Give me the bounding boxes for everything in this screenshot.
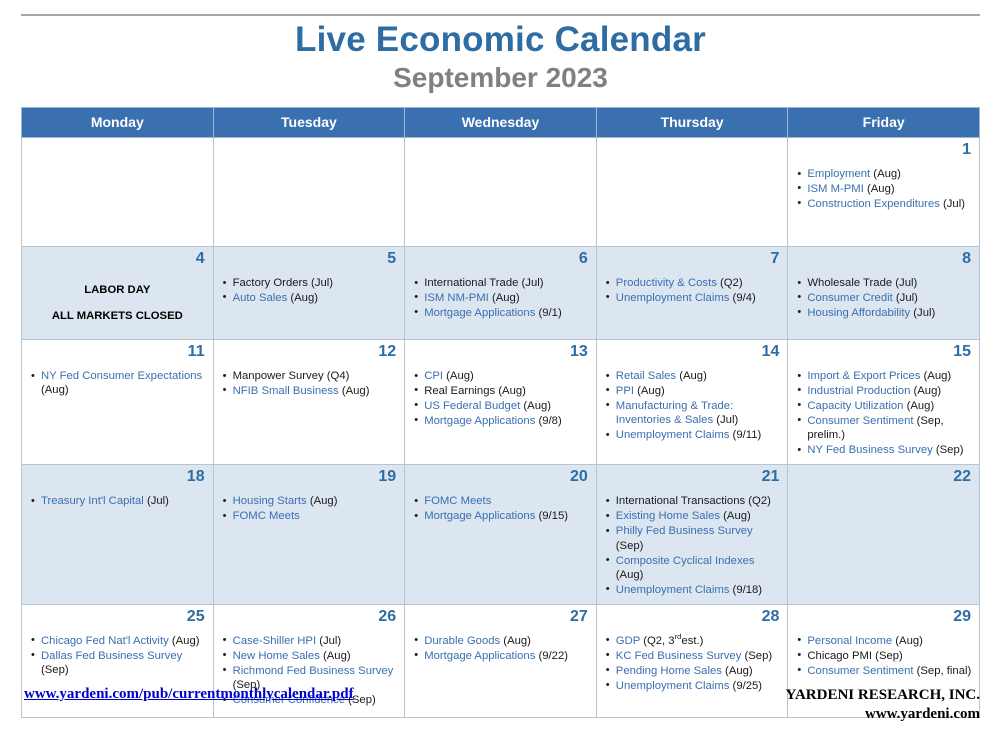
event-name[interactable]: Mortgage Applications — [424, 650, 535, 662]
day-number — [405, 138, 596, 161]
event-period: (Aug) — [720, 510, 751, 522]
event-period: (Q2) — [745, 495, 771, 507]
event-period: (9/1) — [535, 307, 561, 319]
event-period: (9/4) — [729, 292, 755, 304]
event-item: Manpower Survey (Q4) — [222, 369, 399, 383]
event-item[interactable]: ISM M-PMI (Aug) — [796, 182, 973, 196]
event-name[interactable]: Pending Home Sales — [616, 665, 722, 677]
event-period: (9/18) — [729, 584, 762, 596]
event-item[interactable]: PPI (Aug) — [605, 384, 782, 398]
event-period: (Jul) — [910, 307, 935, 319]
calendar-day-cell: 14Retail Sales (Aug)PPI (Aug)Manufacturi… — [596, 340, 788, 465]
event-period: (Sep) — [41, 664, 69, 676]
calendar-container: Monday Tuesday Wednesday Thursday Friday… — [21, 107, 980, 718]
event-name[interactable]: FOMC Meets — [233, 510, 300, 522]
event-period: (Jul) — [308, 277, 333, 289]
event-period: (Aug) — [443, 370, 474, 382]
event-name[interactable]: Dallas Fed Business Survey — [41, 650, 182, 662]
event-name[interactable]: New Home Sales — [233, 650, 320, 662]
event-name[interactable]: Housing Starts — [233, 495, 307, 507]
event-period: (Jul) — [892, 277, 917, 289]
event-name[interactable]: NY Fed Business Survey — [807, 444, 932, 456]
calendar-page: Live Economic Calendar September 2023 Mo… — [0, 0, 1001, 748]
event-name[interactable]: Construction Expenditures — [807, 198, 940, 210]
day-number: 4 — [22, 247, 213, 270]
weekday-header-thursday: Thursday — [596, 108, 788, 138]
event-item[interactable]: Consumer Credit (Jul) — [796, 291, 973, 305]
holiday-line-2: ALL MARKETS CLOSED — [26, 310, 209, 322]
calendar-day-cell: 15Import & Export Prices (Aug)Industrial… — [788, 340, 980, 465]
event-item[interactable]: Productivity & Costs (Q2) — [605, 276, 782, 290]
event-item[interactable]: Existing Home Sales (Aug) — [605, 509, 782, 523]
event-item: Wholesale Trade (Jul) — [796, 276, 973, 290]
event-name: International Transactions — [616, 495, 745, 507]
day-number: 25 — [22, 605, 213, 628]
calendar-day-cell: 7Productivity & Costs (Q2)Unemployment C… — [596, 247, 788, 340]
event-name[interactable]: Consumer Sentiment — [807, 415, 913, 427]
day-number: 7 — [597, 247, 788, 270]
event-name[interactable]: Composite Cyclical Indexes — [616, 555, 755, 567]
event-name[interactable]: Treasury Int'l Capital — [41, 495, 144, 507]
event-period: (Q4) — [324, 370, 350, 382]
event-list: Factory Orders (Jul)Auto Sales (Aug) — [214, 270, 405, 312]
calendar-empty-cell — [405, 138, 597, 247]
calendar-week-row: 1Employment (Aug)ISM M-PMI (Aug)Construc… — [22, 138, 980, 247]
event-period: (Jul) — [144, 495, 169, 507]
calendar-empty-cell — [213, 138, 405, 247]
calendar-day-cell: 8Wholesale Trade (Jul)Consumer Credit (J… — [788, 247, 980, 340]
event-list: CPI (Aug)Real Earnings (Aug)US Federal B… — [405, 363, 596, 435]
event-period: (Sep) — [616, 540, 644, 552]
publisher-block: YARDENI RESEARCH, INC. www.yardeni.com — [786, 686, 980, 724]
event-item: Real Earnings (Aug) — [413, 384, 590, 398]
day-number: 20 — [405, 465, 596, 488]
day-number — [22, 138, 213, 161]
calendar-day-cell: 4LABOR DAYALL MARKETS CLOSED — [22, 247, 214, 340]
weekday-header-tuesday: Tuesday — [213, 108, 405, 138]
event-name[interactable]: Existing Home Sales — [616, 510, 720, 522]
event-period: (Aug) — [169, 635, 200, 647]
event-item[interactable]: Pending Home Sales (Aug) — [605, 664, 782, 678]
event-item[interactable]: Manufacturing & Trade: Inventories & Sal… — [605, 399, 782, 428]
event-name[interactable]: PPI — [616, 385, 634, 397]
event-list: Treasury Int'l Capital (Jul) — [22, 488, 213, 515]
event-item[interactable]: Unemployment Claims (9/11) — [605, 428, 782, 442]
event-name[interactable]: Durable Goods — [424, 635, 500, 647]
weekday-header-monday: Monday — [22, 108, 214, 138]
event-item[interactable]: Unemployment Claims (9/4) — [605, 291, 782, 305]
event-period: (Aug) — [676, 370, 707, 382]
event-item: International Transactions (Q2) — [605, 494, 782, 508]
day-number: 18 — [22, 465, 213, 488]
event-name[interactable]: Philly Fed Business Survey — [616, 525, 753, 537]
event-list: International Trade (Jul)ISM NM-PMI (Aug… — [405, 270, 596, 327]
event-name[interactable]: Case-Shiller HPI — [233, 635, 317, 647]
event-period: (Aug) — [41, 384, 69, 396]
event-period: (Jul) — [316, 635, 341, 647]
event-list: Productivity & Costs (Q2)Unemployment Cl… — [597, 270, 788, 312]
event-item[interactable]: NFIB Small Business (Aug) — [222, 384, 399, 398]
event-name[interactable]: Unemployment Claims — [616, 429, 730, 441]
event-list: Durable Goods (Aug)Mortgage Applications… — [405, 628, 596, 670]
calendar-body: 1Employment (Aug)ISM M-PMI (Aug)Construc… — [22, 138, 980, 718]
calendar-day-cell: 11NY Fed Consumer Expectations (Aug) — [22, 340, 214, 465]
event-name[interactable]: FOMC Meets — [424, 495, 491, 507]
event-item[interactable]: NY Fed Consumer Expectations (Aug) — [30, 369, 207, 398]
event-period: (9/11) — [729, 429, 761, 441]
calendar-day-cell: 5Factory Orders (Jul)Auto Sales (Aug) — [213, 247, 405, 340]
day-number — [597, 138, 788, 161]
event-name[interactable]: Auto Sales — [233, 292, 288, 304]
day-number: 13 — [405, 340, 596, 363]
event-period: (Aug) — [500, 635, 531, 647]
event-item[interactable]: Mortgage Applications (9/22) — [413, 649, 590, 663]
calendar-day-cell: 12Manpower Survey (Q4)NFIB Small Busines… — [213, 340, 405, 465]
event-item[interactable]: Capacity Utilization (Aug) — [796, 399, 973, 413]
calendar-empty-cell — [22, 138, 214, 247]
event-period: (Jul) — [940, 198, 965, 210]
event-name[interactable]: Employment — [807, 168, 870, 180]
event-name: Factory Orders — [233, 277, 308, 289]
event-name[interactable]: KC Fed Business Survey — [616, 650, 742, 662]
calendar-day-cell: 6International Trade (Jul)ISM NM-PMI (Au… — [405, 247, 597, 340]
event-item[interactable]: GDP (Q2, 3rdest.) — [605, 634, 782, 648]
event-list: Housing Starts (Aug)FOMC Meets — [214, 488, 405, 530]
event-period: (Jul) — [713, 414, 738, 426]
weekday-header-wednesday: Wednesday — [405, 108, 597, 138]
event-item[interactable]: Retail Sales (Aug) — [605, 369, 782, 383]
calendar-week-row: 11NY Fed Consumer Expectations (Aug)12Ma… — [22, 340, 980, 465]
event-item[interactable]: Mortgage Applications (9/15) — [413, 509, 590, 523]
event-name[interactable]: Consumer Credit — [807, 292, 892, 304]
day-number: 26 — [214, 605, 405, 628]
event-list: FOMC MeetsMortgage Applications (9/15) — [405, 488, 596, 530]
event-item[interactable]: Housing Affordability (Jul) — [796, 306, 973, 320]
event-period: (Aug) — [892, 635, 923, 647]
event-list: Wholesale Trade (Jul)Consumer Credit (Ju… — [788, 270, 979, 327]
event-period: (Jul) — [518, 277, 543, 289]
event-name[interactable]: Mortgage Applications — [424, 307, 535, 319]
event-period: (Aug) — [339, 385, 370, 397]
event-item[interactable]: Philly Fed Business Survey (Sep) — [605, 524, 782, 553]
event-item[interactable]: Dallas Fed Business Survey (Sep) — [30, 649, 207, 678]
event-item[interactable]: Composite Cyclical Indexes (Aug) — [605, 554, 782, 583]
calendar-week-row: 18Treasury Int'l Capital (Jul)19Housing … — [22, 465, 980, 605]
event-name[interactable]: Capacity Utilization — [807, 400, 903, 412]
event-name[interactable]: Consumer Sentiment — [807, 665, 913, 677]
ordinal-superscript: rd — [675, 632, 682, 641]
event-period: (Aug) — [520, 400, 551, 412]
event-period: (Aug) — [616, 569, 644, 581]
event-period: (Aug) — [489, 292, 520, 304]
page-subtitle: September 2023 — [0, 63, 1001, 94]
event-period: (Sep, final) — [914, 665, 972, 677]
event-item[interactable]: Industrial Production (Aug) — [796, 384, 973, 398]
event-period: (Aug) — [903, 400, 934, 412]
event-item[interactable]: Chicago Fed Nat'l Activity (Aug) — [30, 634, 207, 648]
event-name[interactable]: ISM NM-PMI — [424, 292, 489, 304]
event-list: Retail Sales (Aug)PPI (Aug)Manufacturing… — [597, 363, 788, 449]
event-list: International Transactions (Q2)Existing … — [597, 488, 788, 604]
event-item[interactable]: US Federal Budget (Aug) — [413, 399, 590, 413]
event-period: (Aug) — [722, 665, 753, 677]
event-item[interactable]: Mortgage Applications (9/1) — [413, 306, 590, 320]
event-item[interactable]: Import & Export Prices (Aug) — [796, 369, 973, 383]
event-item[interactable]: NY Fed Business Survey (Sep) — [796, 443, 973, 457]
event-name[interactable]: Richmond Fed Business Survey — [233, 665, 394, 677]
day-number: 15 — [788, 340, 979, 363]
event-name[interactable]: Housing Affordability — [807, 307, 910, 319]
day-number: 21 — [597, 465, 788, 488]
event-item[interactable]: CPI (Aug) — [413, 369, 590, 383]
day-number: 8 — [788, 247, 979, 270]
event-period: (Sep) — [872, 650, 903, 662]
calendar-day-cell: 20FOMC MeetsMortgage Applications (9/15) — [405, 465, 597, 605]
event-item[interactable]: Construction Expenditures (Jul) — [796, 197, 973, 211]
event-period: (Aug) — [870, 168, 901, 180]
event-item[interactable]: Case-Shiller HPI (Jul) — [222, 634, 399, 648]
event-period: (9/15) — [535, 510, 568, 522]
event-item[interactable]: New Home Sales (Aug) — [222, 649, 399, 663]
event-name: Wholesale Trade — [807, 277, 892, 289]
event-item: International Trade (Jul) — [413, 276, 590, 290]
calendar-day-cell: 13CPI (Aug)Real Earnings (Aug)US Federal… — [405, 340, 597, 465]
event-name[interactable]: Industrial Production — [807, 385, 910, 397]
event-name[interactable]: Retail Sales — [616, 370, 676, 382]
event-name[interactable]: NY Fed Consumer Expectations — [41, 370, 202, 382]
event-list: Import & Export Prices (Aug)Industrial P… — [788, 363, 979, 464]
day-number: 14 — [597, 340, 788, 363]
event-list: Employment (Aug)ISM M-PMI (Aug)Construct… — [788, 161, 979, 218]
event-period: (Sep) — [933, 444, 964, 456]
event-name[interactable]: ISM M-PMI — [807, 183, 863, 195]
event-name[interactable]: Mortgage Applications — [424, 415, 535, 427]
day-number: 28 — [597, 605, 788, 628]
event-name[interactable]: GDP — [616, 635, 640, 647]
event-item[interactable]: Housing Starts (Aug) — [222, 494, 399, 508]
calendar-day-cell: 18Treasury Int'l Capital (Jul) — [22, 465, 214, 605]
event-list: Manpower Survey (Q4)NFIB Small Business … — [214, 363, 405, 405]
calendar-empty-cell — [596, 138, 788, 247]
event-name: Real Earnings — [424, 385, 495, 397]
event-item[interactable]: Personal Income (Aug) — [796, 634, 973, 648]
event-name[interactable]: Personal Income — [807, 635, 892, 647]
event-item[interactable]: Consumer Sentiment (Sep, final) — [796, 664, 973, 678]
weekday-header-row: Monday Tuesday Wednesday Thursday Friday — [22, 108, 980, 138]
calendar-day-cell: 22 — [788, 465, 980, 605]
calendar-day-cell: 19Housing Starts (Aug)FOMC Meets — [213, 465, 405, 605]
event-list: Personal Income (Aug)Chicago PMI (Sep)Co… — [788, 628, 979, 685]
calendar-day-cell: 21International Transactions (Q2)Existin… — [596, 465, 788, 605]
event-name[interactable]: Import & Export Prices — [807, 370, 920, 382]
publisher-name: YARDENI RESEARCH, INC. — [786, 686, 980, 705]
day-number: 12 — [214, 340, 405, 363]
event-item[interactable]: FOMC Meets — [413, 494, 590, 508]
header-divider — [21, 14, 980, 16]
event-item: Chicago PMI (Sep) — [796, 649, 973, 663]
pdf-link[interactable]: www.yardeni.com/pub/currentmonthlycalend… — [24, 686, 354, 703]
event-period: (Aug) — [307, 495, 338, 507]
event-period: (Jul) — [893, 292, 918, 304]
event-name[interactable]: Unemployment Claims — [616, 292, 730, 304]
day-number — [214, 138, 405, 161]
event-period: (Aug) — [287, 292, 318, 304]
event-list: Chicago Fed Nat'l Activity (Aug)Dallas F… — [22, 628, 213, 684]
weekday-header-friday: Friday — [788, 108, 980, 138]
event-list: NY Fed Consumer Expectations (Aug) — [22, 363, 213, 404]
day-number: 29 — [788, 605, 979, 628]
calendar-week-row: 4LABOR DAYALL MARKETS CLOSED5Factory Ord… — [22, 247, 980, 340]
event-item[interactable]: KC Fed Business Survey (Sep) — [605, 649, 782, 663]
event-name[interactable]: Unemployment Claims — [616, 584, 730, 596]
event-item[interactable]: Consumer Sentiment (Sep, prelim.) — [796, 414, 973, 443]
event-period: (Aug) — [495, 385, 526, 397]
event-item[interactable]: Employment (Aug) — [796, 167, 973, 181]
event-name[interactable]: NFIB Small Business — [233, 385, 339, 397]
event-name[interactable]: CPI — [424, 370, 443, 382]
event-period: (Aug) — [910, 385, 941, 397]
event-period: (Aug) — [920, 370, 951, 382]
event-name[interactable]: US Federal Budget — [424, 400, 520, 412]
event-period: (Q2, 3rdest.) — [640, 635, 703, 647]
event-period: (9/8) — [535, 415, 561, 427]
event-item[interactable]: Treasury Int'l Capital (Jul) — [30, 494, 207, 508]
event-item[interactable]: Unemployment Claims (9/18) — [605, 583, 782, 597]
event-name: International Trade — [424, 277, 518, 289]
day-number: 5 — [214, 247, 405, 270]
day-number: 1 — [788, 138, 979, 161]
holiday-notice: LABOR DAYALL MARKETS CLOSED — [22, 270, 213, 323]
event-name[interactable]: Productivity & Costs — [616, 277, 717, 289]
holiday-line-1: LABOR DAY — [26, 284, 209, 296]
event-name: Chicago PMI — [807, 650, 872, 662]
event-item[interactable]: FOMC Meets — [222, 509, 399, 523]
event-period: (Aug) — [634, 385, 665, 397]
day-number: 11 — [22, 340, 213, 363]
event-item: Factory Orders (Jul) — [222, 276, 399, 290]
event-item[interactable]: Mortgage Applications (9/8) — [413, 414, 590, 428]
event-period: (Aug) — [320, 650, 351, 662]
day-number: 6 — [405, 247, 596, 270]
event-period: (Sep) — [741, 650, 772, 662]
page-footer: www.yardeni.com/pub/currentmonthlycalend… — [21, 686, 980, 736]
event-item[interactable]: Auto Sales (Aug) — [222, 291, 399, 305]
event-name[interactable]: Mortgage Applications — [424, 510, 535, 522]
event-period: (Q2) — [717, 277, 743, 289]
event-period: (9/22) — [535, 650, 568, 662]
event-item[interactable]: Durable Goods (Aug) — [413, 634, 590, 648]
calendar-day-cell: 1Employment (Aug)ISM M-PMI (Aug)Construc… — [788, 138, 980, 247]
page-title: Live Economic Calendar — [0, 0, 1001, 59]
event-name: Manpower Survey — [233, 370, 324, 382]
day-number: 27 — [405, 605, 596, 628]
event-item[interactable]: ISM NM-PMI (Aug) — [413, 291, 590, 305]
event-name[interactable]: Chicago Fed Nat'l Activity — [41, 635, 169, 647]
event-period: (Aug) — [864, 183, 895, 195]
day-number: 22 — [788, 465, 979, 488]
publisher-website: www.yardeni.com — [786, 705, 980, 724]
calendar-table: Monday Tuesday Wednesday Thursday Friday… — [21, 107, 980, 718]
day-number: 19 — [214, 465, 405, 488]
